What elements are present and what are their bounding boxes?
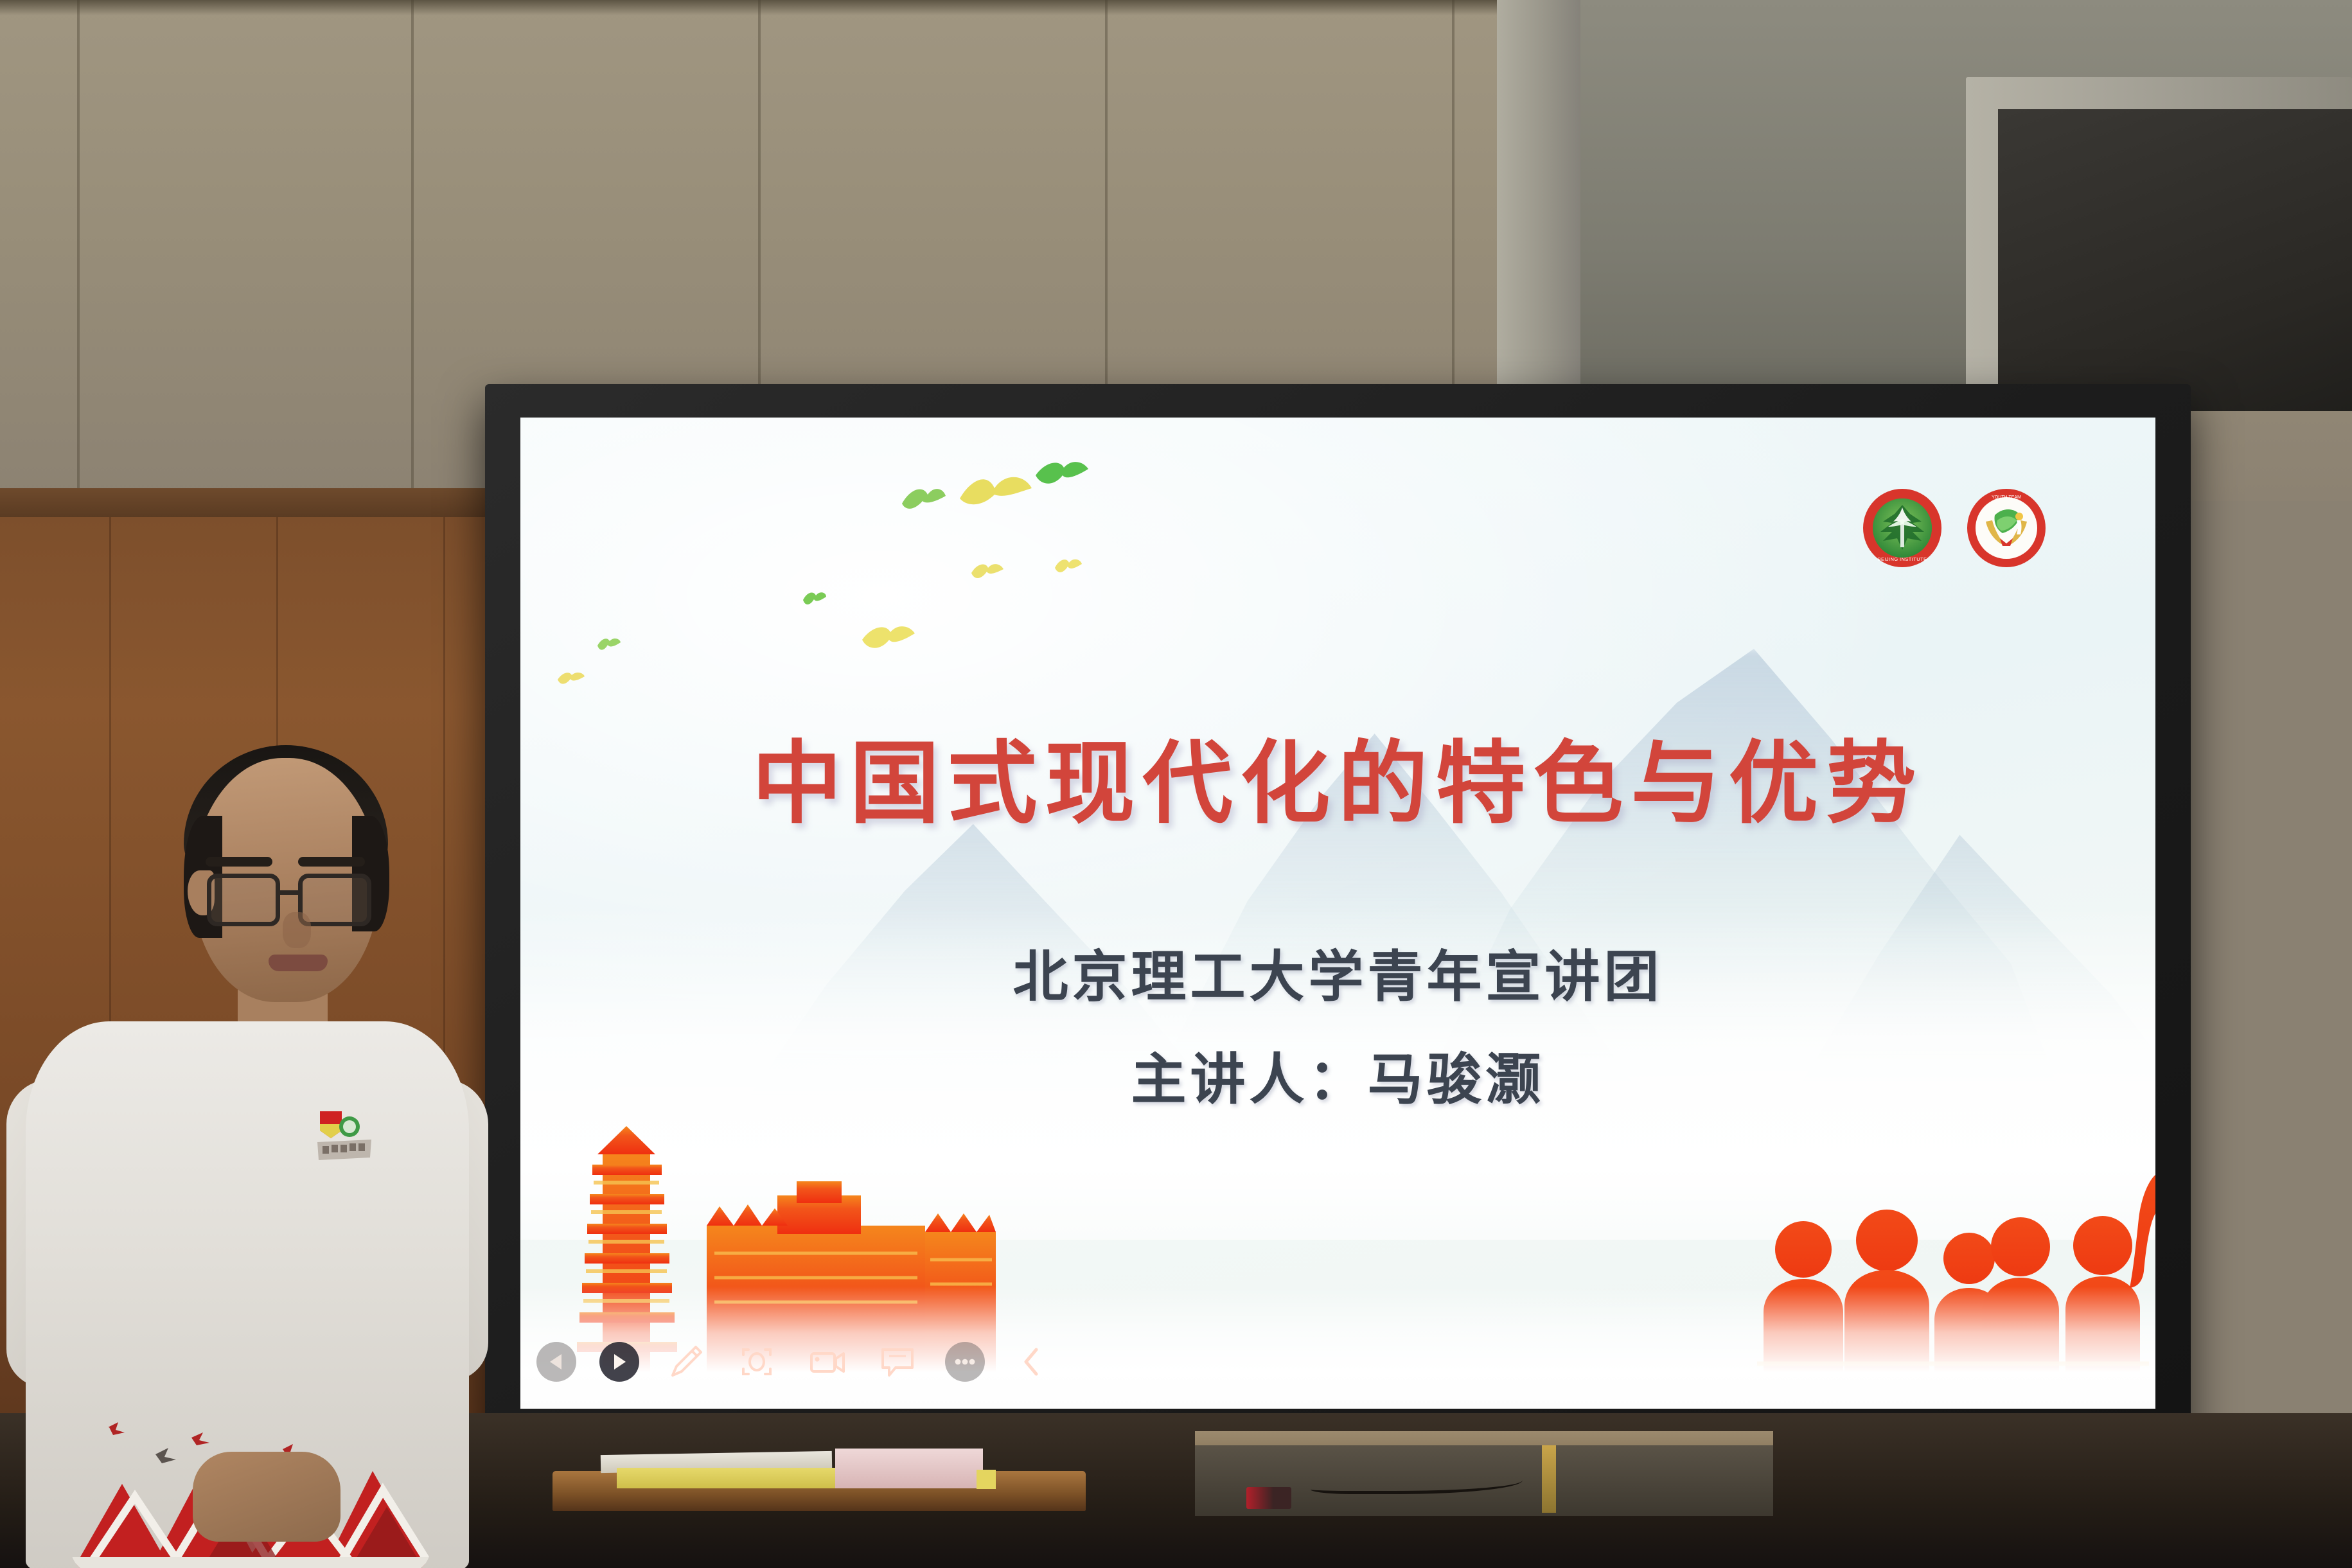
- bit-logo: BEIJING INSTITUTE: [1862, 488, 1942, 568]
- bird-icon: [1054, 556, 1083, 578]
- more-options-button[interactable]: [945, 1342, 985, 1382]
- eyebrow: [298, 857, 365, 867]
- dark-doorway: [1998, 109, 2352, 411]
- brass-stand: [1542, 1445, 1556, 1513]
- powerpoint-slide[interactable]: BEIJING INSTITUTE: [520, 418, 2155, 1409]
- crowd-silhouette: [1719, 1152, 2155, 1409]
- display-screen[interactable]: BEIJING INSTITUTE: [520, 418, 2155, 1409]
- youth-team-logo: YOUTH TEAM: [1967, 488, 2046, 568]
- svg-text:YOUTH TEAM: YOUTH TEAM: [1992, 495, 2021, 500]
- notes-button[interactable]: [874, 1342, 922, 1382]
- next-slide-button[interactable]: [599, 1342, 639, 1382]
- presentation-toolbar[interactable]: [536, 1342, 1056, 1382]
- previous-slide-button[interactable]: [536, 1342, 576, 1382]
- glasses-bridge: [280, 890, 298, 895]
- clasped-hands: [193, 1452, 340, 1542]
- interactive-flat-panel-display[interactable]: BEIJING INSTITUTE: [485, 384, 2191, 1444]
- bird-icon: [596, 636, 622, 655]
- lens: [207, 874, 280, 926]
- desk-yellow-book: [617, 1468, 838, 1488]
- pen-button[interactable]: [662, 1342, 710, 1382]
- bird-icon: [957, 469, 1034, 520]
- bird-icon: [802, 590, 827, 610]
- red-device: [1246, 1487, 1291, 1509]
- record-button[interactable]: [804, 1342, 851, 1382]
- svg-text:BEIJING INSTITUTE: BEIJING INSTITUTE: [1878, 556, 1927, 562]
- spotlight-button[interactable]: [733, 1342, 781, 1382]
- nose: [283, 912, 311, 948]
- logo-group: BEIJING INSTITUTE: [1862, 488, 2046, 568]
- collapse-button[interactable]: [1008, 1342, 1056, 1382]
- wall-seam: [411, 0, 414, 501]
- student-presenter: [0, 719, 501, 1568]
- mouth: [269, 955, 328, 971]
- bird-icon: [901, 484, 947, 518]
- desk-pink-folder: [835, 1449, 983, 1488]
- classroom-photo-scene: BEIJING INSTITUTE: [0, 0, 2352, 1568]
- eyebrow: [206, 857, 272, 867]
- slide-subtitle: 北京理工大学青年宣讲团: [520, 931, 2155, 1012]
- slide-title: 中国式现代化的特色与优势: [520, 739, 2155, 829]
- wall-pillar: [1497, 0, 1580, 411]
- wall-seam: [77, 0, 80, 501]
- bird-icon: [970, 560, 1005, 585]
- bird-icon: [1034, 459, 1090, 495]
- bird-icon: [556, 669, 586, 689]
- desk-small-yellow-item: [977, 1470, 996, 1489]
- bird-icon: [861, 622, 916, 659]
- shirt-emblem-patch: [308, 1105, 379, 1169]
